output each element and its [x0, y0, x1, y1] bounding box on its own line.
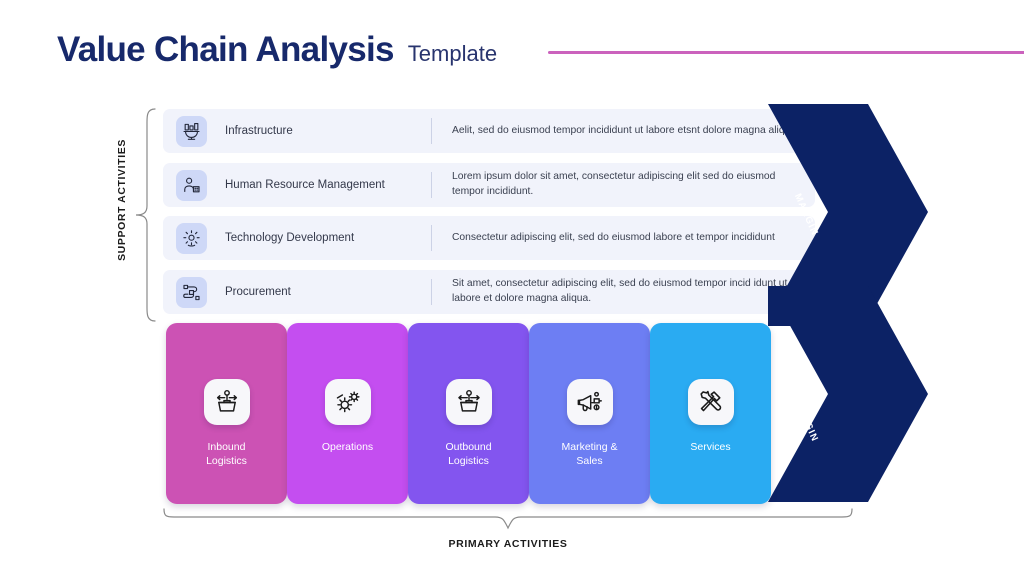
primary-activities-cards: InboundLogistics Operations — [166, 323, 856, 505]
primary-card-inbound-logistics[interactable]: InboundLogistics — [166, 323, 287, 504]
infrastructure-icon — [176, 116, 207, 147]
primary-card-services[interactable]: Services — [650, 323, 771, 504]
row-divider — [431, 279, 432, 305]
primary-card-operations[interactable]: Operations — [287, 323, 408, 504]
gears-icon — [325, 379, 371, 425]
row-divider — [431, 118, 432, 144]
support-row-title: Infrastructure — [225, 124, 425, 138]
inbound-box-icon — [204, 379, 250, 425]
outbound-box-icon — [446, 379, 492, 425]
support-row-title: Technology Development — [225, 231, 425, 245]
primary-card-label: InboundLogistics — [200, 440, 253, 468]
primary-card-label: Marketing &Sales — [555, 440, 623, 468]
megaphone-icon — [567, 379, 613, 425]
support-row-title: Procurement — [225, 285, 425, 299]
technology-development-icon — [176, 223, 207, 254]
support-row-procurement[interactable]: Procurement Sit amet, consectetur adipis… — [163, 270, 815, 314]
page-title: Value Chain Analysis — [57, 32, 394, 67]
primary-activities-axis-label: PRIMARY ACTIVITIES — [163, 538, 853, 550]
primary-card-label: OutboundLogistics — [439, 440, 497, 468]
support-activities-list: Infrastructure Aelit, sed do eiusmod tem… — [163, 109, 823, 321]
primary-card-outbound-logistics[interactable]: OutboundLogistics — [408, 323, 529, 504]
human-resource-icon — [176, 170, 207, 201]
support-row-technology-development[interactable]: Technology Development Consectetur adipi… — [163, 216, 815, 260]
support-row-title: Human Resource Management — [225, 178, 425, 192]
primary-card-label: Services — [684, 440, 736, 454]
page-header: Value Chain Analysis Template — [57, 32, 1017, 78]
support-row-human-resource-management[interactable]: Human Resource Management Lorem ipsum do… — [163, 163, 815, 207]
primary-activities-bracket — [163, 508, 853, 534]
support-activities-bracket — [134, 108, 156, 322]
row-divider — [431, 225, 432, 251]
tools-icon — [688, 379, 734, 425]
procurement-icon — [176, 277, 207, 308]
row-divider — [431, 172, 432, 198]
header-accent-rule — [548, 51, 1024, 54]
primary-card-marketing-and-sales[interactable]: Marketing &Sales — [529, 323, 650, 504]
primary-card-label: Operations — [316, 440, 379, 454]
title-row: Value Chain Analysis Template — [57, 32, 1017, 67]
support-activities-axis-label: SUPPORT ACTIVITIES — [116, 120, 136, 280]
support-row-infrastructure[interactable]: Infrastructure Aelit, sed do eiusmod tem… — [163, 109, 815, 153]
slide-canvas: Value Chain Analysis Template SUPPORT AC… — [0, 0, 1024, 576]
page-subtitle: Template — [408, 43, 497, 65]
